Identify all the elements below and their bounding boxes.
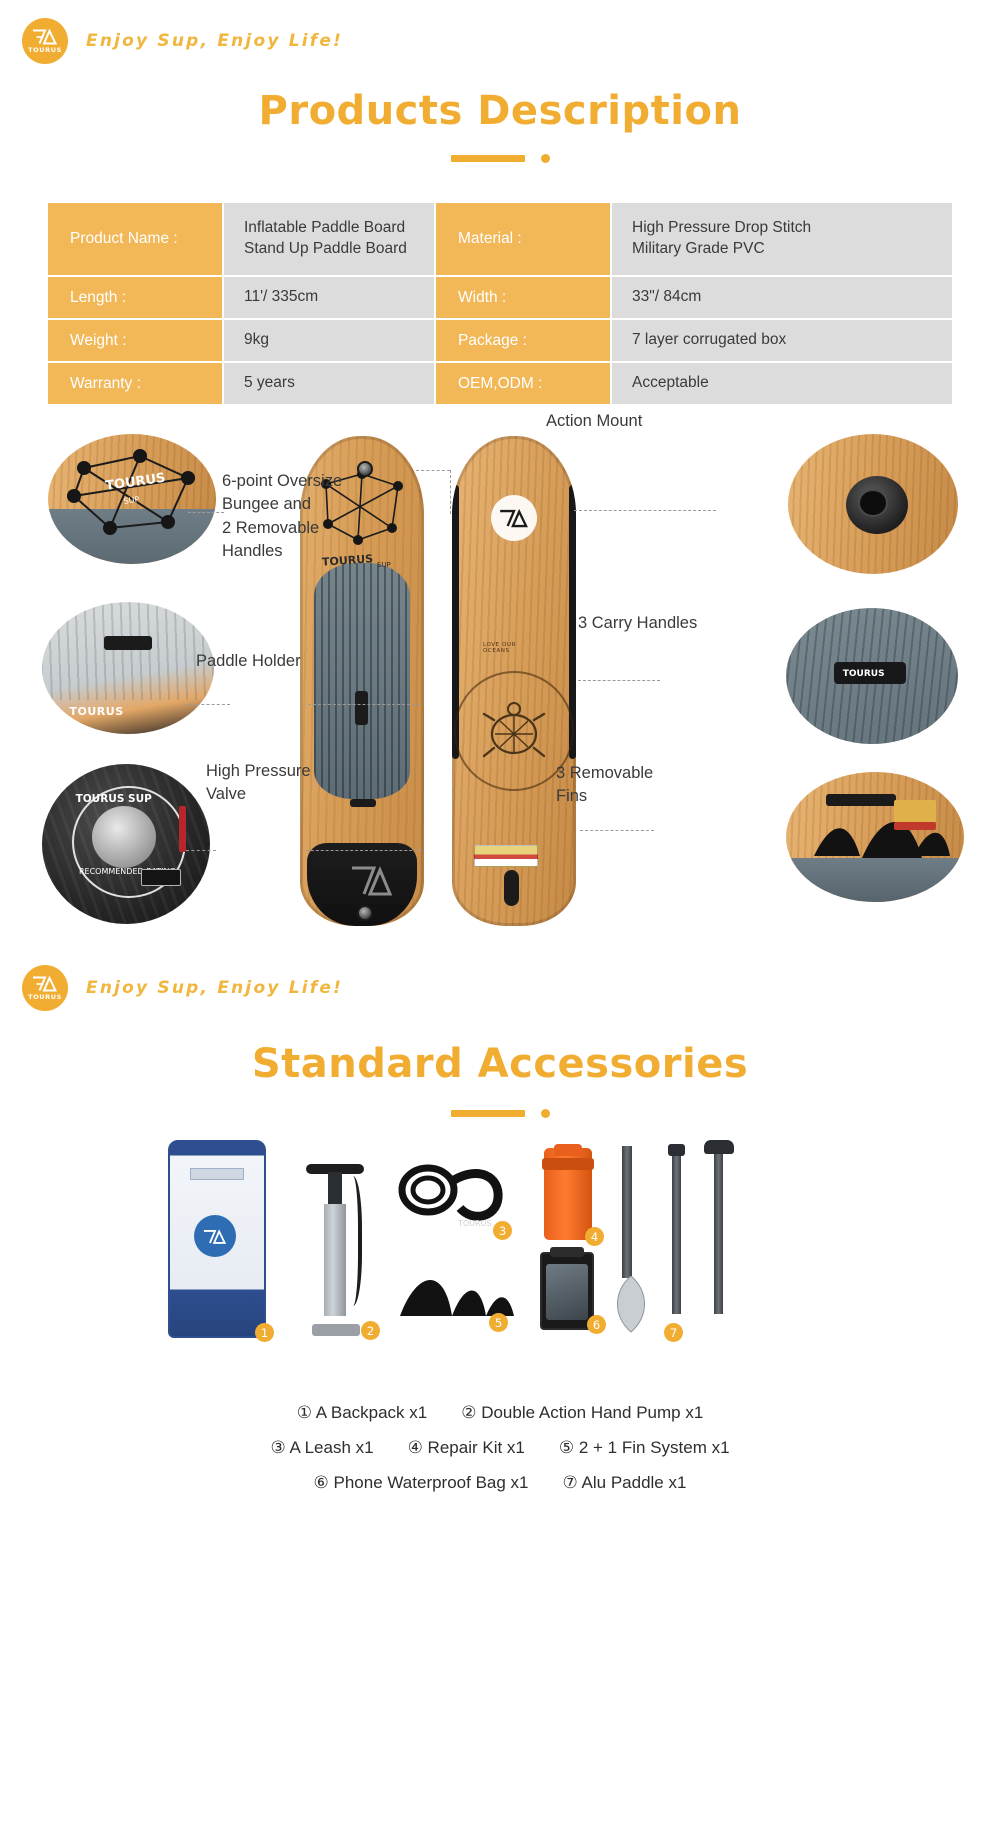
divider-dot — [541, 154, 550, 163]
handle-brand-text: TOURUS — [843, 669, 885, 679]
carry-handle-tail — [350, 799, 376, 807]
leader-bungee-v — [450, 470, 451, 514]
brand-tagline-top: Enjoy Sup, Enjoy Life! — [86, 31, 343, 51]
carry-handle-center — [355, 691, 368, 725]
callout-paddle-holder: Paddle Holder — [196, 650, 346, 673]
detail-photo-valve: TOURUS SUP RECOMMENDED RATING — [42, 764, 210, 924]
divider-products — [0, 154, 1000, 163]
spec-value: 9kg — [224, 320, 434, 361]
accessory-badge-3: 3 — [493, 1221, 512, 1240]
tourus-monogram-icon — [32, 28, 58, 45]
leader-action-mount — [574, 510, 716, 511]
leader-paddle-holder-2 — [308, 704, 420, 705]
divider-dot — [541, 1109, 550, 1118]
accessory-backpack: 1 — [168, 1140, 266, 1338]
svg-text:TOURUS: TOURUS — [104, 471, 166, 494]
spec-key: Length : — [48, 277, 222, 318]
accessory-phone-bag: 6 — [540, 1252, 594, 1330]
turtle-icon — [470, 694, 558, 768]
svg-text:TOURUS: TOURUS — [457, 1219, 492, 1228]
logo-wordmark-bottom: TOURUS — [28, 993, 62, 1001]
leader-bungee — [188, 512, 224, 513]
callout-action-mount-label: Action Mount — [546, 410, 716, 433]
divider-bar — [451, 1110, 525, 1117]
legend-item: ⑦ Alu Paddle x1 — [563, 1466, 687, 1501]
board-tail-logo-icon — [348, 862, 394, 902]
accessory-fin-system: 5 — [394, 1250, 518, 1326]
detail-brand-text: TOURUS — [70, 705, 124, 718]
spec-value-text: Inflatable Paddle Board Stand Up Paddle … — [244, 219, 407, 257]
accessory-badge-7: 7 — [664, 1323, 683, 1342]
spec-key: Width : — [436, 277, 610, 318]
legend-row: ① A Backpack x1 ② Double Action Hand Pum… — [0, 1396, 1000, 1431]
leader-valve — [186, 850, 216, 851]
callout-carry-handles: 3 Carry Handles — [578, 612, 748, 635]
leader-paddle-holder — [186, 704, 230, 705]
valve-label-top: TOURUS SUP — [76, 793, 152, 805]
spec-key: Weight : — [48, 320, 222, 361]
legend-item: ① A Backpack x1 — [297, 1396, 428, 1431]
table-row: Length : 11'/ 335cm Width : 33"/ 84cm — [48, 277, 952, 318]
table-row: Product Name : Inflatable Paddle Board S… — [48, 203, 952, 275]
spec-value: 7 layer corrugated box — [612, 320, 952, 361]
accessory-badge-1: 1 — [255, 1323, 274, 1342]
board-bottom-body: LOVE OUR OCEANS — [452, 436, 576, 926]
turtle-caption: LOVE OUR OCEANS — [483, 642, 545, 654]
brand-bar-bottom: TOURUS Enjoy Sup, Enjoy Life! — [0, 957, 1000, 1011]
tourus-monogram-icon — [32, 975, 58, 992]
detail-photo-action-mount — [788, 434, 958, 574]
logo-wordmark-top: TOURUS — [28, 46, 62, 54]
spec-value-text: High Pressure Drop Stitch Military Grade… — [632, 219, 811, 257]
spec-value: 33"/ 84cm — [612, 277, 952, 318]
detail-photo-bungee: TOURUS SUP — [48, 434, 216, 564]
spec-key: Warranty : — [48, 363, 222, 404]
callout-valve: High Pressure Valve — [206, 760, 346, 807]
legend-row: ③ A Leash x1 ④ Repair Kit x1 ⑤ 2 + 1 Fin… — [0, 1431, 1000, 1466]
accessory-badge-2: 2 — [361, 1321, 380, 1340]
spec-value: Acceptable — [612, 363, 952, 404]
leader-valve-2 — [306, 850, 422, 851]
brand-tagline-bottom: Enjoy Sup, Enjoy Life! — [86, 978, 343, 998]
callout-bungee: 6-point Oversize Bungee and 2 Removable … — [222, 470, 352, 564]
standard-accessories-title: Standard Accessories — [0, 1041, 1000, 1087]
accessories-legend: ① A Backpack x1 ② Double Action Hand Pum… — [0, 1396, 1000, 1501]
accessory-leash: TOURUS 3 — [394, 1150, 518, 1236]
paddle-blade-icon — [610, 1276, 652, 1334]
legend-item: ② Double Action Hand Pump x1 — [461, 1396, 703, 1431]
board-bottom-logo-badge — [491, 495, 537, 541]
callout-fins: 3 Removable Fins — [556, 762, 686, 809]
products-description-title: Products Description — [0, 88, 1000, 134]
bungee-cord-lines-icon: TOURUS SUP — [48, 434, 216, 564]
divider-accessories — [0, 1109, 1000, 1118]
board-front-sub: SUP — [377, 561, 391, 569]
spec-key: Package : — [436, 320, 610, 361]
leader-bungee-2 — [416, 470, 450, 471]
accessory-badge-5: 5 — [489, 1313, 508, 1332]
spec-table: Product Name : Inflatable Paddle Board S… — [46, 201, 954, 406]
tourus-logo-top: TOURUS — [22, 18, 68, 64]
svg-text:SUP: SUP — [123, 495, 140, 506]
spec-key: Material : — [436, 203, 610, 275]
accessory-badge-4: 4 — [585, 1227, 604, 1246]
legend-item: ③ A Leash x1 — [270, 1431, 373, 1466]
spec-value: 11'/ 335cm — [224, 277, 434, 318]
board-bottom-view: LOVE OUR OCEANS — [452, 436, 576, 926]
detail-photo-carry-handle: TOURUS — [786, 608, 958, 744]
accessory-repair-kit: 4 — [544, 1148, 592, 1240]
legend-item: ⑥ Phone Waterproof Bag x1 — [314, 1466, 529, 1501]
tourus-monogram-icon — [499, 507, 529, 529]
spec-value: Inflatable Paddle Board Stand Up Paddle … — [224, 203, 434, 275]
tourus-monogram-icon — [203, 1228, 227, 1245]
accessories-images: 1 2 TOURUS 3 5 4 — [0, 1140, 1000, 1370]
leader-fins — [580, 830, 654, 831]
legend-item: ④ Repair Kit x1 — [408, 1431, 525, 1466]
divider-bar — [451, 155, 525, 162]
valve-top — [357, 461, 373, 477]
accessory-badge-6: 6 — [587, 1315, 606, 1334]
table-row: Warranty : 5 years OEM,ODM : Acceptable — [48, 363, 952, 404]
legend-row: ⑥ Phone Waterproof Bag x1 ⑦ Alu Paddle x… — [0, 1466, 1000, 1501]
spec-key: Product Name : — [48, 203, 222, 275]
brand-bar-top: TOURUS Enjoy Sup, Enjoy Life! — [0, 0, 1000, 64]
board-feature-diagram: TOURUS SUP TOURUS TOURUS SUP RECOMMENDED… — [0, 412, 1000, 957]
detail-photo-paddle-holder: TOURUS — [42, 602, 214, 734]
spec-value: 5 years — [224, 363, 434, 404]
spec-value: High Pressure Drop Stitch Military Grade… — [612, 203, 952, 275]
tourus-logo-bottom: TOURUS — [22, 965, 68, 1011]
legend-item: ⑤ 2 + 1 Fin System x1 — [559, 1431, 730, 1466]
accessory-alu-paddle: 7 — [620, 1140, 740, 1338]
fins-icon — [786, 772, 964, 902]
spec-key: OEM,ODM : — [436, 363, 610, 404]
leader-carry-handles — [578, 680, 660, 681]
accessory-hand-pump: 2 — [300, 1146, 370, 1338]
carry-handle-bottom — [504, 870, 519, 906]
table-row: Weight : 9kg Package : 7 layer corrugate… — [48, 320, 952, 361]
detail-photo-fins — [786, 772, 964, 902]
